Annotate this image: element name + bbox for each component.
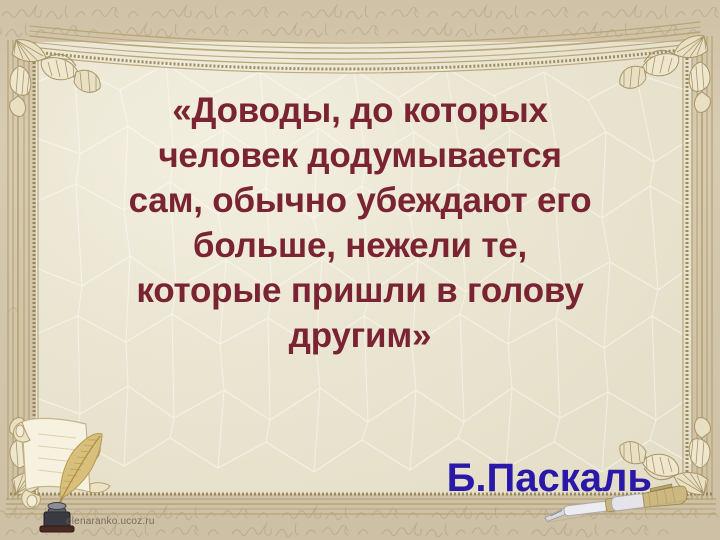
quote-line-5: которые пришли в голову	[40, 268, 680, 313]
quote-line-2: человек додумывается	[40, 133, 680, 178]
quote-line-6: другим»	[40, 313, 680, 358]
quote-slide: «Доводы, до которых человек додумывается…	[0, 0, 720, 540]
quote-line-1: «Доводы, до которых	[40, 88, 680, 133]
quote-line-4: больше, нежели те,	[40, 223, 680, 268]
quote-text: «Доводы, до которых человек додумывается…	[40, 88, 680, 358]
quote-author: Б.Паскаль	[447, 455, 652, 501]
site-watermark: elenaranko.ucoz.ru	[66, 516, 155, 527]
quote-line-3: сам, обычно убеждают его	[40, 178, 680, 223]
